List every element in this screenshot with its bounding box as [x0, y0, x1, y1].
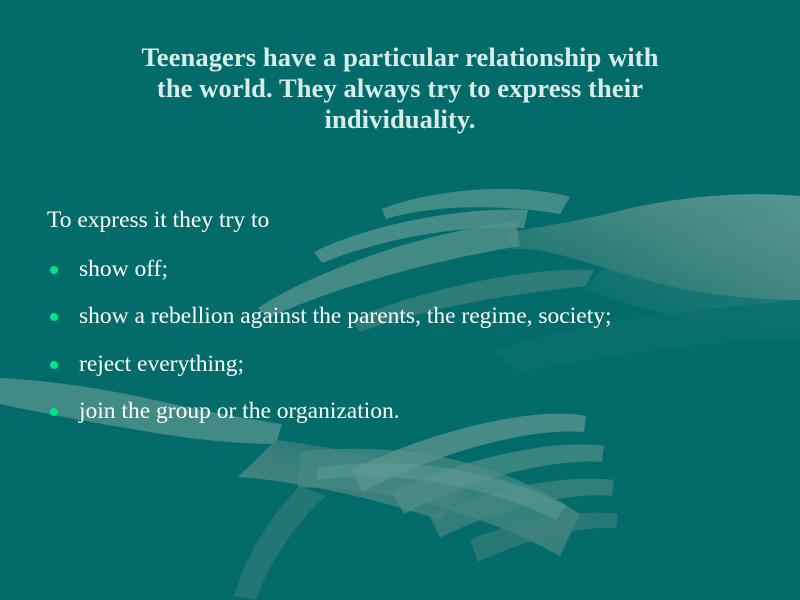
slide-body: To express it they try to show off; show… — [44, 205, 774, 429]
list-item: show off; — [44, 251, 774, 287]
list-item-label: show a rebellion against the parents, th… — [79, 298, 774, 335]
list-item-label: reject everything; — [79, 346, 774, 382]
bullet-dot-icon — [50, 313, 58, 321]
bullet-list: show off; show a rebellion against the p… — [44, 251, 774, 429]
list-item: reject everything; — [44, 346, 774, 382]
list-item-label: join the group or the organization. — [79, 393, 774, 429]
title-line-3: individuality. — [48, 104, 752, 135]
list-item-label: show off; — [79, 251, 774, 287]
body-intro-text: To express it they try to — [44, 205, 774, 235]
slide-title: Teenagers have a particular relationship… — [48, 42, 752, 135]
list-item: join the group or the organization. — [44, 393, 774, 429]
title-line-2: the world. They always try to express th… — [48, 73, 752, 104]
presentation-slide: Teenagers have a particular relationship… — [0, 0, 800, 600]
list-item: show a rebellion against the parents, th… — [44, 298, 774, 335]
bullet-dot-icon — [50, 266, 58, 274]
bullet-dot-icon — [50, 408, 58, 416]
title-line-1: Teenagers have a particular relationship… — [48, 42, 752, 73]
bullet-dot-icon — [50, 361, 58, 369]
